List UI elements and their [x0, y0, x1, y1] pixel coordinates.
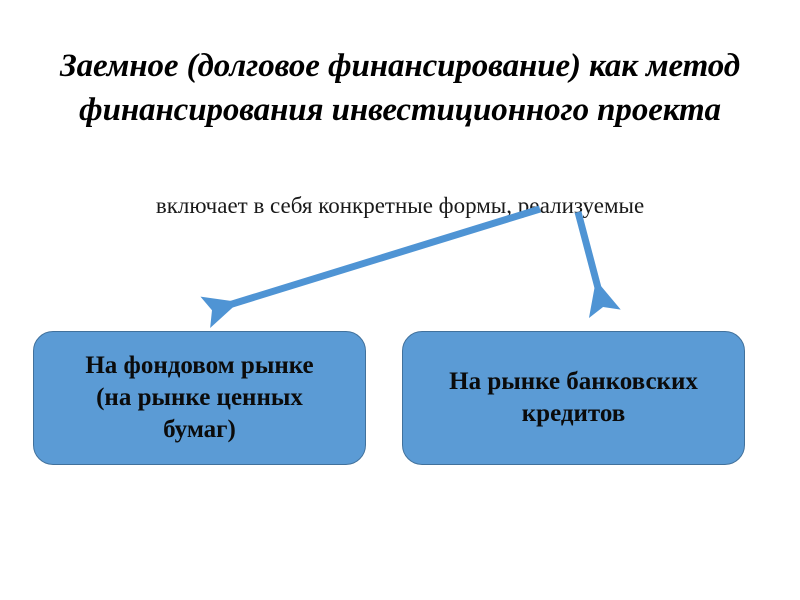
- box-bank-credit-market-label: На рынке банковских кредитов: [449, 366, 698, 430]
- box-stock-market-label: На фондовом рынке (на рынке ценных бумаг…: [85, 350, 313, 446]
- arrow-to-bank-credit-market: [578, 212, 602, 303]
- arrow-to-stock-market: [216, 209, 540, 309]
- subtitle-text: включает в себя конкретные формы, реализ…: [10, 192, 790, 220]
- slide-canvas: Заемное (долговое финансирование) как ме…: [0, 0, 800, 600]
- box-bank-credit-market[interactable]: На рынке банковских кредитов: [402, 331, 745, 465]
- page-title: Заемное (долговое финансирование) как ме…: [10, 44, 790, 132]
- box-stock-market[interactable]: На фондовом рынке (на рынке ценных бумаг…: [33, 331, 366, 465]
